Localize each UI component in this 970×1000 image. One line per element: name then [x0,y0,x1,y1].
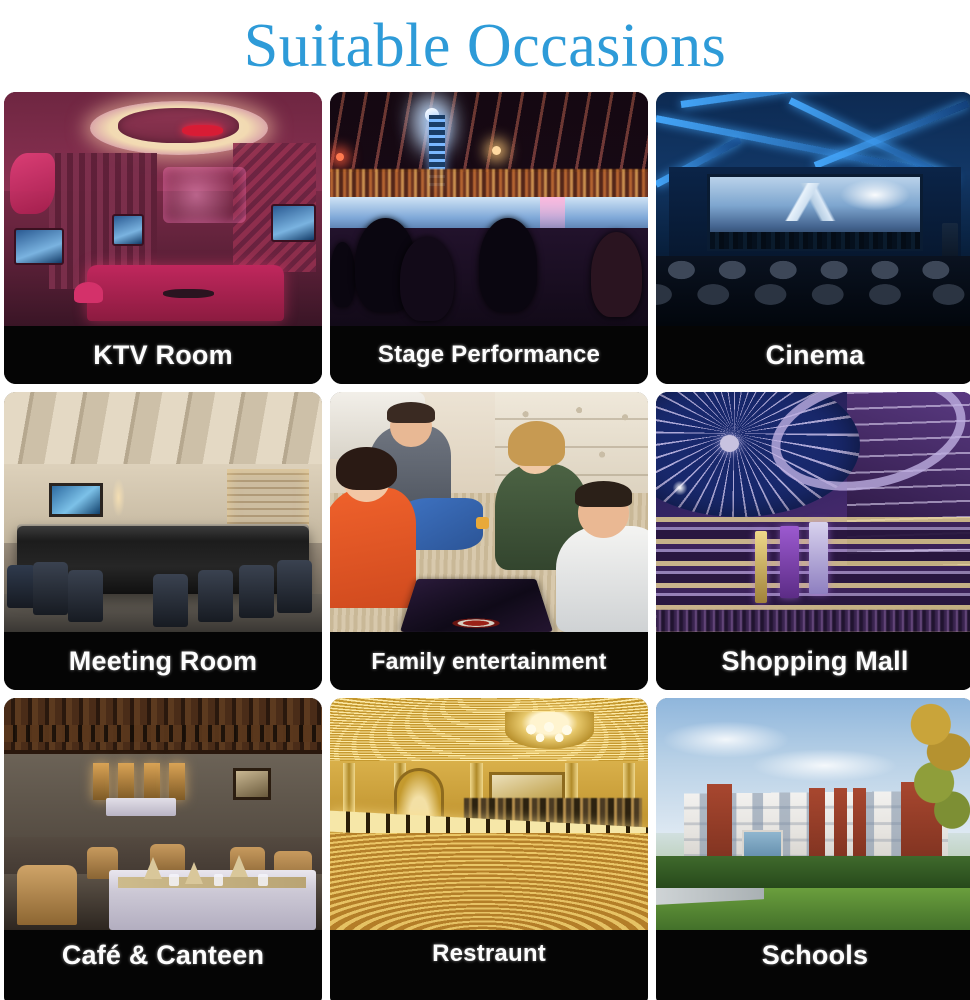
cafe-canteen-caption-bar: Café & Canteen [4,930,322,1000]
occasion-card-stage-performance[interactable]: Stage Performance [330,92,648,384]
cafe-canteen-scene [4,698,322,930]
cinema-scene [656,92,970,326]
schools-label: Schools [762,940,868,971]
occasion-card-family-entertainment[interactable]: Family entertainment [330,392,648,690]
meeting-room-scene [4,392,322,632]
restraunt-caption-bar: Restraunt [330,930,648,1000]
cafe-canteen-photo [4,698,322,930]
occasion-card-schools[interactable]: Schools [656,698,970,1000]
shopping-mall-photo [656,392,970,632]
cafe-canteen-label: Café & Canteen [62,940,264,971]
ktv-room-label: KTV Room [93,340,233,371]
meeting-room-caption-bar: Meeting Room [4,632,322,690]
stage-performance-label: Stage Performance [378,341,600,369]
family-entertainment-photo [330,392,648,632]
restraunt-photo [330,698,648,930]
occasion-card-cinema[interactable]: Cinema [656,92,970,384]
shopping-mall-label: Shopping Mall [721,646,908,677]
family-entertainment-label: Family entertainment [371,648,606,675]
occasion-card-meeting-room[interactable]: Meeting Room [4,392,322,690]
schools-caption-bar: Schools [656,930,970,1000]
occasion-card-cafe-canteen[interactable]: Café & Canteen [4,698,322,1000]
occasion-card-restraunt[interactable]: Restraunt [330,698,648,1000]
stage-performance-photo [330,92,648,326]
cinema-caption-bar: Cinema [656,326,970,384]
family-entertainment-caption-bar: Family entertainment [330,632,648,690]
schools-scene [656,698,970,930]
restraunt-scene [330,698,648,930]
ktv-room-caption-bar: KTV Room [4,326,322,384]
cinema-photo [656,92,970,326]
occasions-grid: KTV Room Stage Performance [0,92,970,1000]
meeting-room-label: Meeting Room [69,646,257,677]
stage-performance-caption-bar: Stage Performance [330,326,648,384]
restraunt-label: Restraunt [432,940,546,968]
meeting-room-photo [4,392,322,632]
shopping-mall-scene [656,392,970,632]
cinema-label: Cinema [766,340,865,371]
schools-photo [656,698,970,930]
occasion-card-shopping-mall[interactable]: Shopping Mall [656,392,970,690]
ktv-room-photo [4,92,322,326]
stage-performance-scene [330,92,648,326]
ktv-room-scene [4,92,322,326]
shopping-mall-caption-bar: Shopping Mall [656,632,970,690]
family-entertainment-scene [330,392,648,632]
suitable-occasions-page: Suitable Occasions KTV Room [0,0,970,1000]
page-header: Suitable Occasions [0,0,970,92]
page-title: Suitable Occasions [244,15,727,77]
occasion-card-ktv-room[interactable]: KTV Room [4,92,322,384]
